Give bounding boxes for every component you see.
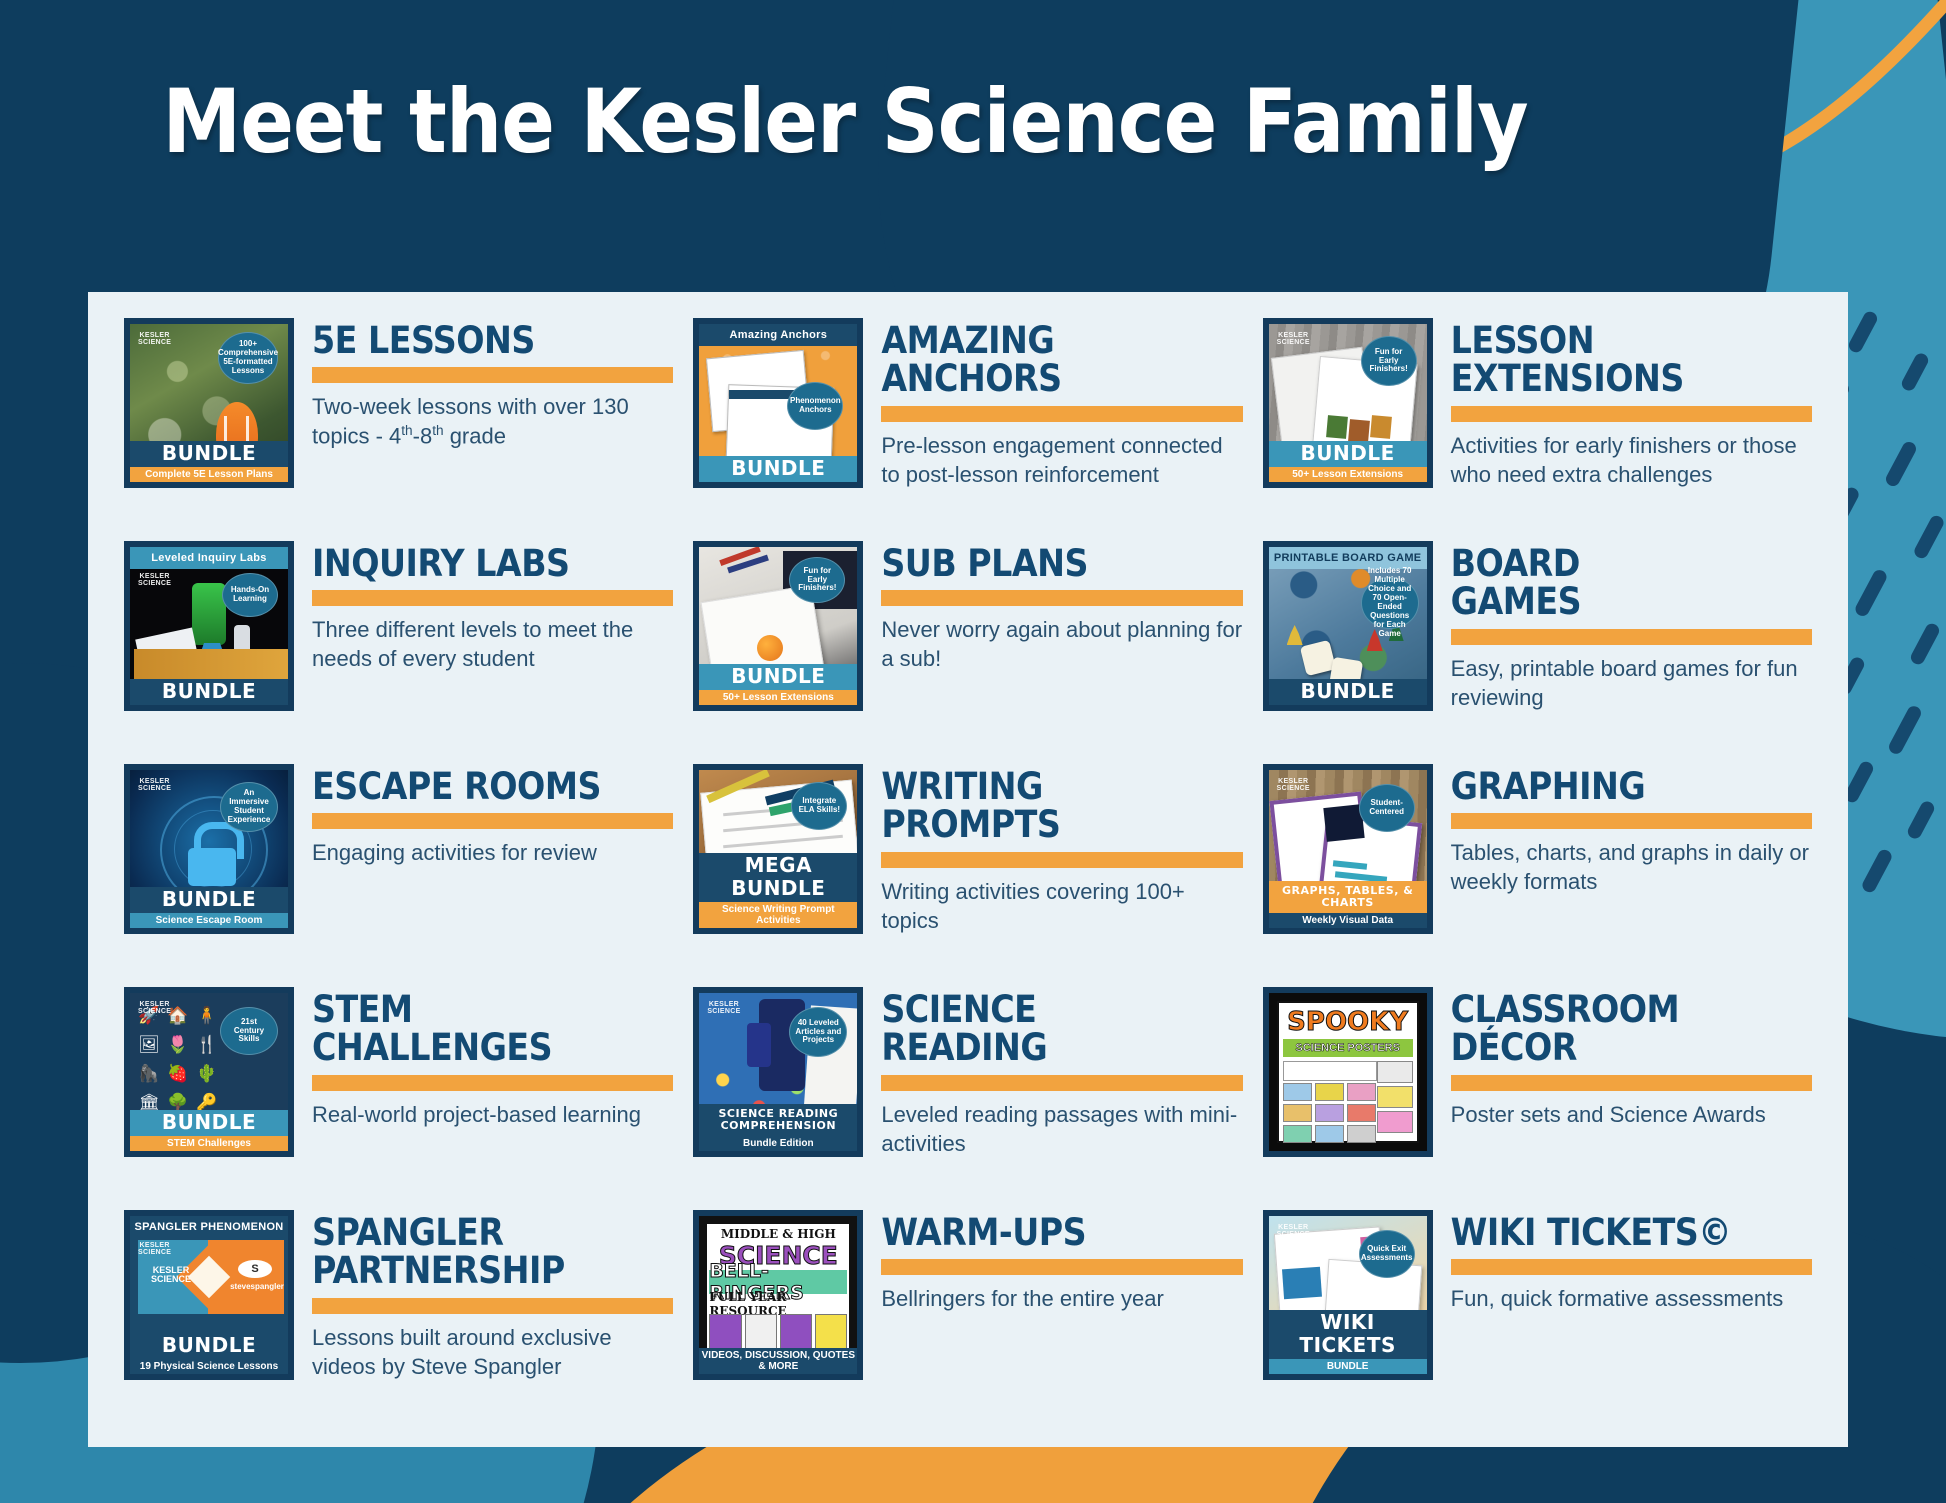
kesler-science-logo: KESLERSCIENCE xyxy=(1277,778,1310,792)
product-description-board-games: Easy, printable board games for fun revi… xyxy=(1451,655,1812,712)
thumb-bundle-label-inquiry-labs: BUNDLE xyxy=(130,679,288,705)
product-description-warm-ups: Bellringers for the entire year xyxy=(881,1285,1242,1314)
kesler-science-logo: KESLERSCIENCE xyxy=(1277,332,1310,346)
product-title-inquiry-labs: INQUIRY LABS xyxy=(312,545,673,583)
orange-rule-5e-lessons xyxy=(312,367,673,383)
product-description-spangler-partnership: Lessons built around exclusive videos by… xyxy=(312,1324,673,1381)
orange-rule-science-reading xyxy=(881,1075,1242,1091)
orange-rule-classroom-decor xyxy=(1451,1075,1812,1091)
product-thumbnail-lesson-extensions[interactable]: KESLERSCIENCEFun for Early Finishers! BU… xyxy=(1263,318,1433,488)
product-card-classroom-decor[interactable]: SPOOKY SCIENCE POSTERS CLASSROOM DÉCOR P… xyxy=(1253,983,1822,1206)
product-card-science-reading[interactable]: KESLERSCIENCE40 Leveled Articles and Pro… xyxy=(683,983,1252,1206)
product-body-sub-plans: SUB PLANS Never worry again about planni… xyxy=(881,541,1242,674)
product-card-graphing[interactable]: KESLERSCIENCEStudent-Centered GRAPHS, TA… xyxy=(1253,760,1822,983)
thumb-footer-wiki-tickets: WIKI TICKETSBUNDLE xyxy=(1269,1310,1427,1374)
product-thumbnail-5e-lessons[interactable]: KESLERSCIENCE100+ Comprehensive 5E-forma… xyxy=(124,318,294,488)
product-thumbnail-warm-ups[interactable]: MIDDLE & HIGH SCIENCE BELL-RINGERS FULL … xyxy=(693,1210,863,1380)
product-description-classroom-decor: Poster sets and Science Awards xyxy=(1451,1101,1812,1130)
product-body-warm-ups: WARM-UPS Bellringers for the entire year xyxy=(881,1210,1242,1314)
orange-rule-graphing xyxy=(1451,813,1812,829)
thumb-badge-lesson-extensions: Fun for Early Finishers! xyxy=(1361,336,1417,386)
product-title-wiki-tickets: WIKI TICKETS© xyxy=(1451,1214,1812,1252)
thumb-footer-inquiry-labs: BUNDLE xyxy=(130,679,288,705)
thumb-sub-label-lesson-extensions: 50+ Lesson Extensions xyxy=(1269,467,1427,482)
product-title-writing-prompts: WRITING PROMPTS xyxy=(881,768,1242,845)
thumb-sub-label-science-reading: Bundle Edition xyxy=(699,1136,857,1151)
thumb-bundle-label-amazing-anchors: BUNDLE xyxy=(699,456,857,482)
thumb-footer-graphing: GRAPHS, TABLES, & CHARTSWeekly Visual Da… xyxy=(1269,881,1427,928)
product-card-lesson-extensions[interactable]: KESLERSCIENCEFun for Early Finishers! BU… xyxy=(1253,314,1822,537)
product-title-stem-challenges: STEM CHALLENGES xyxy=(312,991,673,1068)
product-description-graphing: Tables, charts, and graphs in daily or w… xyxy=(1451,839,1812,896)
product-description-lesson-extensions: Activities for early finishers or those … xyxy=(1451,432,1812,489)
thumb-badge-sub-plans: Fun for Early Finishers! xyxy=(789,557,845,603)
product-title-board-games: BOARD GAMES xyxy=(1451,545,1812,622)
orange-rule-lesson-extensions xyxy=(1451,406,1812,422)
orange-rule-spangler-partnership xyxy=(312,1298,673,1314)
thumb-header-spangler-partnership: SPANGLER PHENOMENON xyxy=(130,1216,288,1238)
product-body-board-games: BOARD GAMES Easy, printable board games … xyxy=(1451,541,1812,712)
thumb-badge-writing-prompts: Integrate ELA Skills! xyxy=(791,782,847,830)
product-thumbnail-wiki-tickets[interactable]: KESLERSCIENCEQuick Exit Assessments WIKI… xyxy=(1263,1210,1433,1380)
product-card-stem-challenges[interactable]: 🚀🏠🧍🖼🌷🍴🦍🍓🌵🏛🌳🔑 KESLERSCIENCE21st Century S… xyxy=(114,983,683,1206)
thumb-sub-label-sub-plans: 50+ Lesson Extensions xyxy=(699,690,857,705)
product-description-escape-rooms: Engaging activities for review xyxy=(312,839,673,868)
thumb-sub-label-writing-prompts: Science Writing Prompt Activities xyxy=(699,902,857,928)
product-title-5e-lessons: 5E LESSONS xyxy=(312,322,673,360)
kesler-science-logo: KESLERSCIENCE xyxy=(138,573,171,587)
product-title-sub-plans: SUB PLANS xyxy=(881,545,1242,583)
thumb-badge-amazing-anchors: Phenomenon Anchors xyxy=(787,382,843,430)
product-card-warm-ups[interactable]: MIDDLE & HIGH SCIENCE BELL-RINGERS FULL … xyxy=(683,1206,1252,1429)
thumb-bundle-label-science-reading: SCIENCE READING COMPREHENSION xyxy=(699,1104,857,1136)
thumb-bundle-label-spangler-partnership: BUNDLE xyxy=(130,1333,288,1359)
product-thumbnail-spangler-partnership[interactable]: KESLERSCIENCE S stevespangler SPANGLER P… xyxy=(124,1210,294,1380)
product-body-escape-rooms: ESCAPE ROOMS Engaging activities for rev… xyxy=(312,764,673,868)
thumb-sub-label-spangler-partnership: 19 Physical Science Lessons xyxy=(130,1359,288,1374)
thumb-bundle-label-stem-challenges: BUNDLE xyxy=(130,1110,288,1136)
product-description-sub-plans: Never worry again about planning for a s… xyxy=(881,616,1242,673)
product-thumbnail-writing-prompts[interactable]: Integrate ELA Skills! MEGA BUNDLEScience… xyxy=(693,764,863,934)
product-body-inquiry-labs: INQUIRY LABS Three different levels to m… xyxy=(312,541,673,674)
orange-rule-board-games xyxy=(1451,629,1812,645)
product-thumbnail-sub-plans[interactable]: Fun for Early Finishers! BUNDLE50+ Lesso… xyxy=(693,541,863,711)
product-card-inquiry-labs[interactable]: Leveled Inquiry LabsKESLERSCIENCEHands-O… xyxy=(114,537,683,760)
product-title-escape-rooms: ESCAPE ROOMS xyxy=(312,768,673,806)
thumb-bundle-label-lesson-extensions: BUNDLE xyxy=(1269,441,1427,467)
product-thumbnail-graphing[interactable]: KESLERSCIENCEStudent-Centered GRAPHS, TA… xyxy=(1263,764,1433,934)
product-body-science-reading: SCIENCE READING Leveled reading passages… xyxy=(881,987,1242,1158)
thumb-badge-science-reading: 40 Leveled Articles and Projects xyxy=(789,1007,847,1057)
thumb-badge-inquiry-labs: Hands-On Learning xyxy=(222,573,278,617)
product-thumbnail-stem-challenges[interactable]: 🚀🏠🧍🖼🌷🍴🦍🍓🌵🏛🌳🔑 KESLERSCIENCE21st Century S… xyxy=(124,987,294,1157)
kesler-science-logo: KESLERSCIENCE xyxy=(138,1242,171,1256)
thumb-footer-stem-challenges: BUNDLESTEM Challenges xyxy=(130,1110,288,1151)
thumb-bundle-label-5e-lessons: BUNDLE xyxy=(130,441,288,467)
product-title-spangler-partnership: SPANGLER PARTNERSHIP xyxy=(312,1214,673,1291)
page-title: Meet the Kesler Science Family xyxy=(0,70,1690,173)
thumb-badge-5e-lessons: 100+ Comprehensive 5E-formatted Lessons xyxy=(218,332,278,384)
kesler-science-logo: KESLERSCIENCE xyxy=(1277,1224,1310,1238)
product-thumbnail-escape-rooms[interactable]: KESLERSCIENCEAn Immersive Student Experi… xyxy=(124,764,294,934)
product-description-writing-prompts: Writing activities covering 100+ topics xyxy=(881,878,1242,935)
thumb-footer-warm-ups: VIDEOS, DISCUSSION, QUOTES & MORE xyxy=(699,1348,857,1374)
product-body-lesson-extensions: LESSON EXTENSIONS Activities for early f… xyxy=(1451,318,1812,489)
product-title-science-reading: SCIENCE READING xyxy=(881,991,1242,1068)
product-thumbnail-board-games[interactable]: PRINTABLE BOARD GAMEIncludes 70 Multiple… xyxy=(1263,541,1433,711)
product-title-amazing-anchors: AMAZING ANCHORS xyxy=(881,322,1242,399)
product-description-amazing-anchors: Pre-lesson engagement connected to post-… xyxy=(881,432,1242,489)
product-description-5e-lessons: Two-week lessons with over 130 topics - … xyxy=(312,393,673,451)
thumb-bundle-label-escape-rooms: BUNDLE xyxy=(130,887,288,913)
product-body-spangler-partnership: SPANGLER PARTNERSHIP Lessons built aroun… xyxy=(312,1210,673,1381)
thumb-badge-escape-rooms: An Immersive Student Experience xyxy=(220,782,278,832)
product-title-graphing: GRAPHING xyxy=(1451,768,1812,806)
thumb-header-amazing-anchors: Amazing Anchors xyxy=(699,324,857,346)
product-thumbnail-science-reading[interactable]: KESLERSCIENCE40 Leveled Articles and Pro… xyxy=(693,987,863,1157)
thumb-footer-spangler-partnership: BUNDLE19 Physical Science Lessons xyxy=(130,1333,288,1374)
orange-rule-sub-plans xyxy=(881,590,1242,606)
thumb-bundle-label-graphing: GRAPHS, TABLES, & CHARTS xyxy=(1269,881,1427,913)
poster-stage: Meet the Kesler Science Family KESLERSCI… xyxy=(0,0,1946,1503)
kesler-science-logo: KESLERSCIENCE xyxy=(138,332,171,346)
product-card-escape-rooms[interactable]: KESLERSCIENCEAn Immersive Student Experi… xyxy=(114,760,683,983)
thumb-sub-label-5e-lessons: Complete 5E Lesson Plans xyxy=(130,467,288,482)
thumb-sub-label-escape-rooms: Science Escape Room xyxy=(130,913,288,928)
products-grid: KESLERSCIENCE100+ Comprehensive 5E-forma… xyxy=(88,292,1848,1447)
orange-rule-writing-prompts xyxy=(881,852,1242,868)
product-description-inquiry-labs: Three different levels to meet the needs… xyxy=(312,616,673,673)
product-body-amazing-anchors: AMAZING ANCHORS Pre-lesson engagement co… xyxy=(881,318,1242,489)
product-body-classroom-decor: CLASSROOM DÉCOR Poster sets and Science … xyxy=(1451,987,1812,1130)
product-body-5e-lessons: 5E LESSONS Two-week lessons with over 13… xyxy=(312,318,673,451)
product-description-stem-challenges: Real-world project-based learning xyxy=(312,1101,673,1130)
thumb-bundle-label-wiki-tickets: WIKI TICKETS xyxy=(1269,1310,1427,1359)
product-card-wiki-tickets[interactable]: KESLERSCIENCEQuick Exit Assessments WIKI… xyxy=(1253,1206,1822,1429)
product-card-amazing-anchors[interactable]: Amazing AnchorsPhenomenon Anchors BUNDLE… xyxy=(683,314,1252,537)
product-card-sub-plans[interactable]: Fun for Early Finishers! BUNDLE50+ Lesso… xyxy=(683,537,1252,760)
product-thumbnail-inquiry-labs[interactable]: Leveled Inquiry LabsKESLERSCIENCEHands-O… xyxy=(124,541,294,711)
product-description-wiki-tickets: Fun, quick formative assessments xyxy=(1451,1285,1812,1314)
orange-rule-escape-rooms xyxy=(312,813,673,829)
thumb-footer-amazing-anchors: BUNDLE xyxy=(699,456,857,482)
thumb-badge-board-games: Includes 70 Multiple Choice and 70 Open-… xyxy=(1361,577,1419,629)
orange-rule-amazing-anchors xyxy=(881,406,1242,422)
product-body-stem-challenges: STEM CHALLENGES Real-world project-based… xyxy=(312,987,673,1130)
product-title-lesson-extensions: LESSON EXTENSIONS xyxy=(1451,322,1812,399)
thumb-footer-sub-plans: BUNDLE50+ Lesson Extensions xyxy=(699,664,857,705)
product-body-writing-prompts: WRITING PROMPTS Writing activities cover… xyxy=(881,764,1242,935)
thumb-footer-science-reading: SCIENCE READING COMPREHENSIONBundle Edit… xyxy=(699,1104,857,1151)
product-body-graphing: GRAPHING Tables, charts, and graphs in d… xyxy=(1451,764,1812,897)
thumb-footer-5e-lessons: BUNDLEComplete 5E Lesson Plans xyxy=(130,441,288,482)
thumb-sub-label-graphing: Weekly Visual Data xyxy=(1269,913,1427,928)
thumb-sub-label-stem-challenges: STEM Challenges xyxy=(130,1136,288,1151)
product-body-wiki-tickets: WIKI TICKETS© Fun, quick formative asses… xyxy=(1451,1210,1812,1314)
product-card-5e-lessons[interactable]: KESLERSCIENCE100+ Comprehensive 5E-forma… xyxy=(114,314,683,537)
thumb-sub-label-warm-ups: VIDEOS, DISCUSSION, QUOTES & MORE xyxy=(699,1348,857,1374)
thumb-badge-graphing: Student-Centered xyxy=(1359,784,1415,832)
thumb-footer-board-games: BUNDLE xyxy=(1269,679,1427,705)
thumb-bundle-label-board-games: BUNDLE xyxy=(1269,679,1427,705)
product-title-warm-ups: WARM-UPS xyxy=(881,1214,1242,1252)
thumb-sub-label-wiki-tickets: BUNDLE xyxy=(1269,1359,1427,1374)
thumb-footer-lesson-extensions: BUNDLE50+ Lesson Extensions xyxy=(1269,441,1427,482)
kesler-science-logo: KESLERSCIENCE xyxy=(138,778,171,792)
orange-rule-wiki-tickets xyxy=(1451,1259,1812,1275)
thumb-footer-escape-rooms: BUNDLEScience Escape Room xyxy=(130,887,288,928)
thumb-badge-stem-challenges: 21st Century Skills xyxy=(220,1007,278,1055)
product-card-board-games[interactable]: PRINTABLE BOARD GAMEIncludes 70 Multiple… xyxy=(1253,537,1822,760)
thumb-footer-writing-prompts: MEGA BUNDLEScience Writing Prompt Activi… xyxy=(699,853,857,928)
product-card-writing-prompts[interactable]: Integrate ELA Skills! MEGA BUNDLEScience… xyxy=(683,760,1252,983)
orange-rule-warm-ups xyxy=(881,1259,1242,1275)
product-thumbnail-classroom-decor[interactable]: SPOOKY SCIENCE POSTERS xyxy=(1263,987,1433,1157)
kesler-science-logo: KESLERSCIENCE xyxy=(138,1001,171,1015)
thumb-badge-wiki-tickets: Quick Exit Assessments xyxy=(1359,1230,1415,1278)
thumb-header-inquiry-labs: Leveled Inquiry Labs xyxy=(130,547,288,569)
product-title-classroom-decor: CLASSROOM DÉCOR xyxy=(1451,991,1812,1068)
thumb-bundle-label-writing-prompts: MEGA BUNDLE xyxy=(699,853,857,902)
product-description-science-reading: Leveled reading passages with mini-activ… xyxy=(881,1101,1242,1158)
product-card-spangler-partnership[interactable]: KESLERSCIENCE S stevespangler SPANGLER P… xyxy=(114,1206,683,1429)
kesler-science-logo: KESLERSCIENCE xyxy=(707,1001,740,1015)
product-thumbnail-amazing-anchors[interactable]: Amazing AnchorsPhenomenon Anchors BUNDLE xyxy=(693,318,863,488)
thumb-bundle-label-sub-plans: BUNDLE xyxy=(699,664,857,690)
products-panel: KESLERSCIENCE100+ Comprehensive 5E-forma… xyxy=(88,292,1848,1447)
orange-rule-stem-challenges xyxy=(312,1075,673,1091)
orange-rule-inquiry-labs xyxy=(312,590,673,606)
